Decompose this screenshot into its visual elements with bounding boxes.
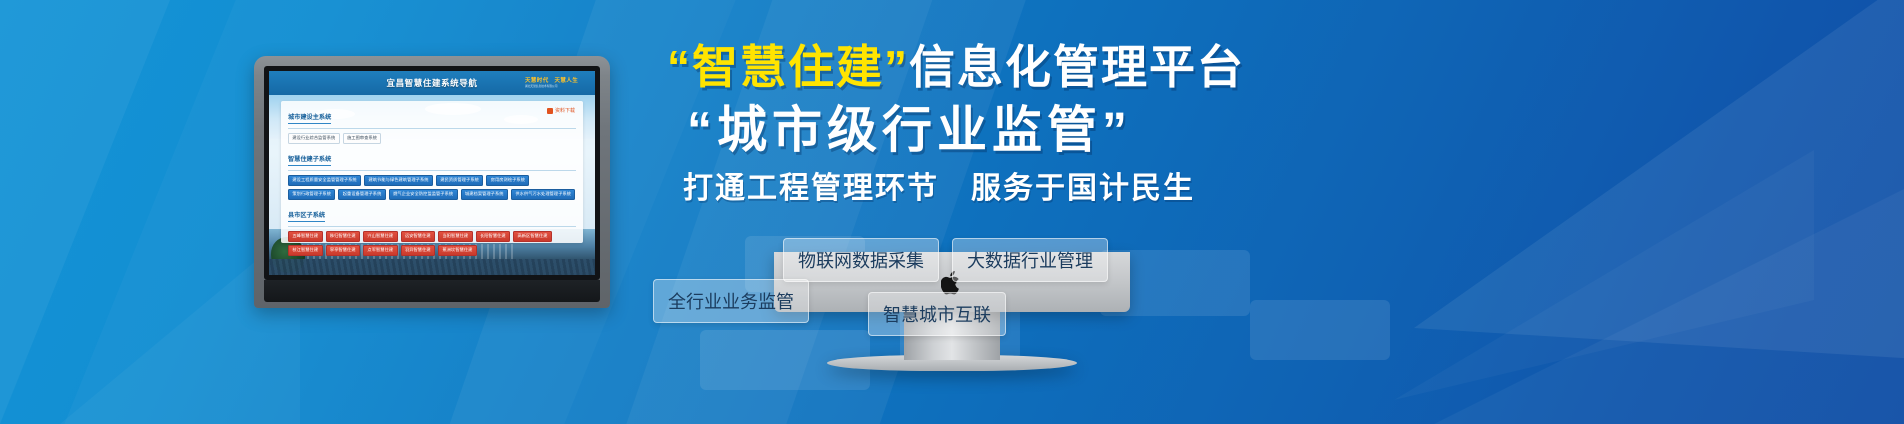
section-chip-list: 建设工程质量安全监管管理子系统 建筑节能与绿色建筑管理子系统 建民资质管理子系统…	[288, 175, 576, 200]
monitor-bezel: 宜昌智慧住建系统导航 天慧时代 天慧人生 湖北天慧信息技术有限公司	[254, 56, 610, 308]
nav-section-smart-housing: 智慧住建子系统 建设工程质量安全监管管理子系统 建筑节能与绿色建筑管理子系统 建…	[288, 148, 576, 200]
nav-chip[interactable]: 蕉洲坎智慧住建	[438, 245, 477, 256]
monitor-screen: 宜昌智慧住建系统导航 天慧时代 天慧人生 湖北天慧信息技术有限公司	[264, 66, 600, 280]
section-title: 智慧住建子系统	[288, 154, 331, 166]
feature-tag-iot-data[interactable]: 物联网数据采集	[783, 238, 939, 282]
nav-chip[interactable]: 建设行业综合监管系统	[288, 133, 340, 144]
nav-chip[interactable]: 长阳智慧住建	[476, 231, 511, 242]
feature-tag-bigdata-industry[interactable]: 大数据行业管理	[952, 238, 1108, 282]
nav-section-county-district: 县市区子系统 五峰智慧住建 秭归智慧住建 兴山智慧住建 远安智慧住建 当阳智慧住…	[288, 204, 576, 256]
nav-chip[interactable]: 枝江智慧住建	[288, 245, 323, 256]
nav-chip[interactable]: 建民资质管理子系统	[436, 175, 483, 186]
nav-chip[interactable]: 燃气企业安全防控监监管子系统	[389, 189, 458, 200]
download-icon	[547, 108, 553, 114]
nav-chip[interactable]: 五峰智慧住建	[288, 231, 323, 242]
headline-block: “智慧住建”信息化管理平台 “城市级行业监管” 打通工程管理环节 服务于国计民生	[655, 40, 1805, 208]
monitor-screen-chin	[264, 280, 600, 302]
imac-monitor: 宜昌智慧住建系统导航 天慧时代 天慧人生 湖北天慧信息技术有限公司	[254, 56, 610, 308]
nav-chip[interactable]: 策划行政管理子系统	[288, 189, 335, 200]
page-header: 宜昌智慧住建系统导航 天慧时代 天慧人生 湖北天慧信息技术有限公司	[269, 71, 595, 95]
download-link[interactable]: 资料下载	[547, 107, 575, 114]
section-divider	[288, 170, 576, 171]
nav-panel: 资料下载 城市建设主系统 建设行业综合监管系统 施工图审查系统	[281, 101, 583, 243]
nav-chip[interactable]: 起重设备管理子系统	[338, 189, 385, 200]
headline-line-1-rest: 信息化管理平台	[909, 41, 1245, 93]
nav-chip[interactable]: 羽异智慧住建	[401, 245, 436, 256]
nav-chip[interactable]: 城建档案管理子系统	[461, 189, 508, 200]
feature-tag-smart-city-connect[interactable]: 智慧城市互联	[868, 292, 1006, 336]
nav-chip[interactable]: 秭归智慧住建	[326, 231, 361, 242]
nav-chip[interactable]: 当阳智慧住建	[438, 231, 473, 242]
section-title: 县市区子系统	[288, 210, 325, 222]
section-divider	[288, 226, 576, 227]
headline-line-3: 打通工程管理环节 服务于国计民生	[683, 170, 1805, 208]
nav-chip[interactable]: 房用房测绘子系统	[486, 175, 529, 186]
nav-chip[interactable]: 高新区智慧住建	[513, 231, 552, 242]
company-logo: 天慧时代 天慧人生 湖北天慧信息技术有限公司	[525, 75, 589, 91]
headline-highlight: “智慧住建”	[667, 41, 909, 93]
nav-chip[interactable]: 兴山智慧住建	[363, 231, 398, 242]
section-chip-list: 五峰智慧住建 秭归智慧住建 兴山智慧住建 远安智慧住建 当阳智慧住建 长阳智慧住…	[288, 231, 576, 256]
section-chip-list: 建设行业综合监管系统 施工图审查系统	[288, 133, 576, 144]
nav-chip[interactable]: 远安智慧住建	[401, 231, 436, 242]
nav-chip[interactable]: 供水供气污水处理管理子系统	[511, 189, 576, 200]
nav-chip[interactable]: 建筑节能与绿色建筑管理子系统	[364, 175, 433, 186]
nav-chip[interactable]: 寜亭智慧住建	[326, 245, 361, 256]
company-logo-line1: 天慧时代 天慧人生	[525, 78, 589, 84]
system-nav-page: 宜昌智慧住建系统导航 天慧时代 天慧人生 湖北天慧信息技术有限公司	[269, 71, 595, 275]
download-label: 资料下载	[555, 107, 575, 114]
company-logo-line2: 湖北天慧信息技术有限公司	[525, 84, 583, 88]
background-triangle-bottom-right	[1394, 184, 1904, 424]
headline-line-2: “城市级行业监管”	[687, 100, 1805, 160]
nav-chip[interactable]: 施工图审查系统	[343, 133, 382, 144]
feature-tag-all-industry-supervision[interactable]: 全行业业务监管	[653, 279, 809, 323]
page-title: 宜昌智慧住建系统导航	[386, 77, 477, 89]
nav-section-city-main: 城市建设主系统 建设行业综合监管系统 施工图审查系统	[288, 106, 576, 144]
section-title: 城市建设主系统	[288, 112, 331, 124]
hero-banner: 宜昌智慧住建系统导航 天慧时代 天慧人生 湖北天慧信息技术有限公司	[0, 0, 1904, 424]
section-divider	[288, 128, 576, 129]
nav-chip[interactable]: 建设工程质量安全监管管理子系统	[288, 175, 361, 186]
headline-line-1: “智慧住建”信息化管理平台	[667, 40, 1805, 94]
nav-chip[interactable]: 点军智慧住建	[363, 245, 398, 256]
ghost-block-5	[1250, 300, 1390, 360]
